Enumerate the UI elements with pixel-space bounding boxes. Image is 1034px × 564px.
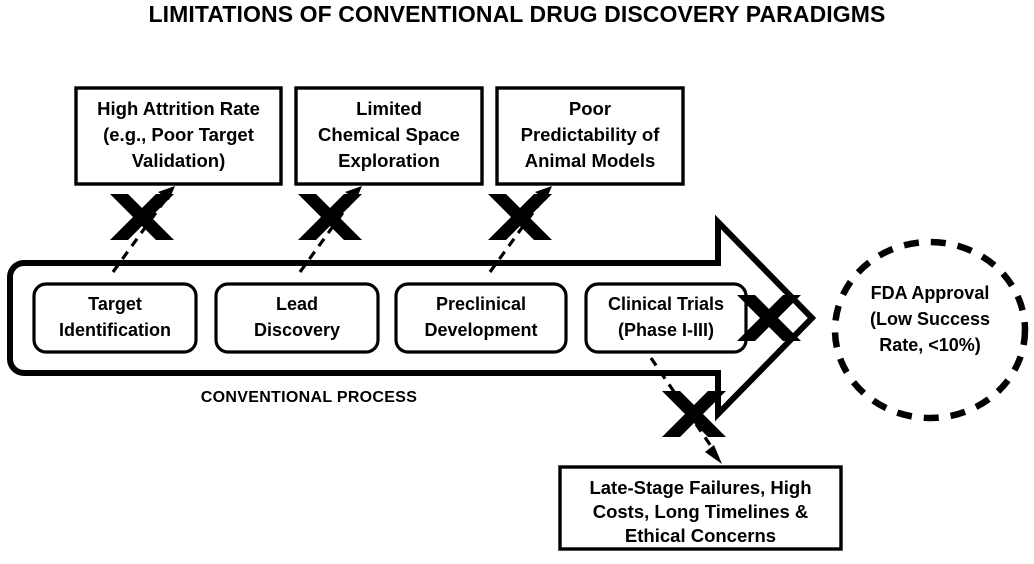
- fda-approval-line: (Low Success: [870, 309, 990, 329]
- process-step-line: Target: [88, 294, 142, 314]
- fda-approval-line: Rate, <10%): [879, 335, 981, 355]
- failure-box-line: Costs, Long Timelines &: [593, 501, 809, 522]
- process-step-lead-discovery[interactable]: Lead Discovery: [216, 284, 378, 352]
- limitation-box-line: High Attrition Rate: [97, 98, 260, 119]
- process-step-clinical-trials[interactable]: Clinical Trials (Phase I-III): [586, 284, 746, 352]
- process-step-line: Preclinical: [436, 294, 526, 314]
- limitation-box-line: Limited: [356, 98, 422, 119]
- arrowhead-icon: [705, 445, 722, 464]
- limitation-box-line: Predictability of: [521, 124, 661, 145]
- drug-discovery-limitations-diagram: LIMITATIONS OF CONVENTIONAL DRUG DISCOVE…: [0, 0, 1034, 564]
- limitation-box-poor-predictability[interactable]: Poor Predictability of Animal Models: [497, 88, 683, 184]
- limitation-box-line: Poor: [569, 98, 611, 119]
- late-stage-failures-box[interactable]: Late-Stage Failures, High Costs, Long Ti…: [560, 467, 841, 549]
- limitation-box-line: Exploration: [338, 150, 440, 171]
- limitation-box-line: Validation): [132, 150, 226, 171]
- process-step-target-identification[interactable]: Target Identification: [34, 284, 196, 352]
- dashed-circle-outline: [835, 242, 1025, 418]
- fda-approval-line: FDA Approval: [871, 283, 990, 303]
- fda-approval-outcome[interactable]: FDA Approval (Low Success Rate, <10%): [835, 242, 1025, 418]
- process-caption: CONVENTIONAL PROCESS: [201, 389, 417, 406]
- limitation-box-high-attrition-rate[interactable]: High Attrition Rate (e.g., Poor Target V…: [76, 88, 281, 184]
- failure-box-line: Ethical Concerns: [625, 525, 776, 546]
- diagram-root: LIMITATIONS OF CONVENTIONAL DRUG DISCOVE…: [0, 0, 1034, 564]
- process-step-line: Development: [424, 320, 537, 340]
- process-step-preclinical-development[interactable]: Preclinical Development: [396, 284, 566, 352]
- process-step-line: Lead: [276, 294, 318, 314]
- limitation-box-line: Chemical Space: [318, 124, 460, 145]
- page-title: LIMITATIONS OF CONVENTIONAL DRUG DISCOVE…: [149, 1, 886, 27]
- failure-box-line: Late-Stage Failures, High: [589, 477, 811, 498]
- process-step-line: Discovery: [254, 320, 340, 340]
- process-step-line: Identification: [59, 320, 171, 340]
- limitation-box-limited-chemical-space[interactable]: Limited Chemical Space Exploration: [296, 88, 482, 184]
- limitation-box-line: (e.g., Poor Target: [103, 124, 254, 145]
- limitation-box-line: Animal Models: [525, 150, 656, 171]
- process-step-line: (Phase I-III): [618, 320, 714, 340]
- process-step-line: Clinical Trials: [608, 294, 724, 314]
